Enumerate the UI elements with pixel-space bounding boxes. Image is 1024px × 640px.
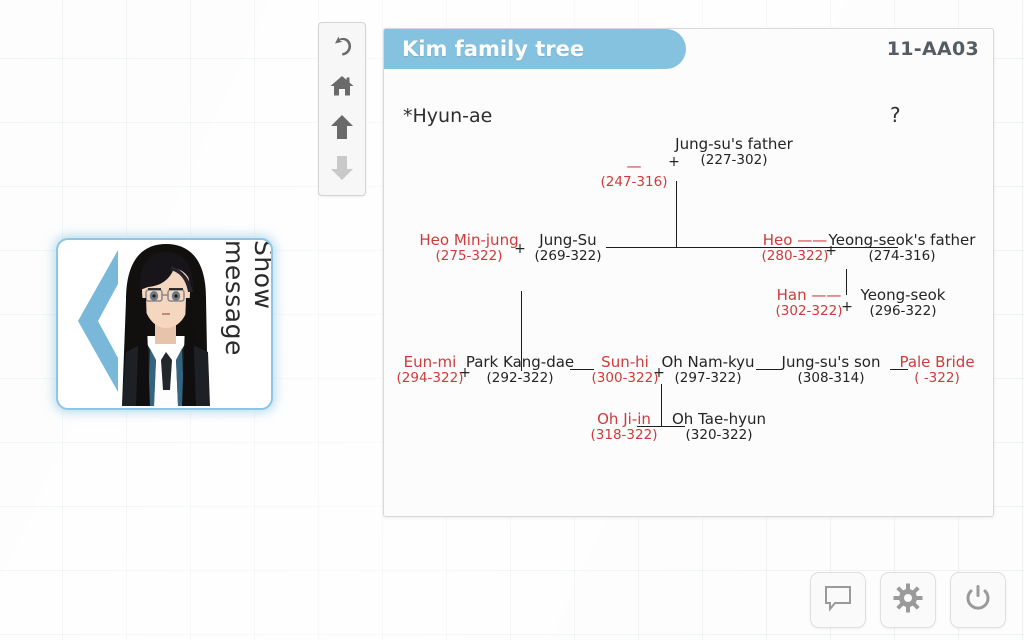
node-name: Oh Nam-kyu <box>661 354 754 371</box>
connector-line <box>756 369 782 370</box>
node-name: — <box>601 158 668 175</box>
power-icon <box>963 583 993 618</box>
tree-node: Yeong-seok (296-322) <box>861 287 946 319</box>
node-dates: (280-322) <box>762 249 829 264</box>
tree-node: Oh Ji-in (318-322) <box>591 411 658 443</box>
home-button[interactable] <box>322 70 362 108</box>
quick-button-bar <box>810 572 1006 628</box>
show-message-label: Show message <box>226 240 272 408</box>
connector-line <box>570 369 594 370</box>
show-message-button[interactable]: Show message <box>56 238 273 410</box>
tree-node: Yeong-seok's father (274-316) <box>829 232 976 264</box>
node-name: Heo Min-jung <box>419 232 518 249</box>
node-name: Heo —— <box>762 232 829 249</box>
node-name: Yeong-seok's father <box>829 232 976 249</box>
node-dates: (318-322) <box>591 428 658 443</box>
tree-node: Oh Tae-hyun (320-322) <box>672 411 766 443</box>
node-name: Park Kang-dae <box>466 354 574 371</box>
node-name: Oh Tae-hyun <box>672 411 766 428</box>
tree-node: Heo Min-jung (275-322) <box>419 232 518 264</box>
node-name: Jung-su's son <box>782 354 881 371</box>
node-name: Han —— <box>776 287 843 304</box>
node-name: Jung-su's father <box>675 136 793 153</box>
tree-node: — (247-316) <box>601 158 668 190</box>
settings-gear-icon <box>893 583 923 618</box>
character-portrait <box>110 240 220 406</box>
node-dates: (308-314) <box>782 371 881 386</box>
page-indicator: Page 1/3 <box>648 516 713 517</box>
family-tree-diagram: — (247-316) + Jung-su's father (227-302)… <box>384 29 994 517</box>
next-page-button[interactable]: Next page <box>851 516 928 517</box>
tree-node: Han —— (302-322) <box>776 287 843 319</box>
scroll-down-button[interactable] <box>322 152 362 190</box>
node-name: Pale Bride <box>899 354 974 371</box>
node-dates: (300-322) <box>592 371 659 386</box>
marriage-symbol: + <box>841 299 853 315</box>
node-dates: (320-322) <box>672 428 766 443</box>
connector-line <box>676 181 677 247</box>
node-name: Eun-mi <box>397 354 464 371</box>
node-dates: (294-322) <box>397 371 464 386</box>
home-icon <box>329 73 355 104</box>
node-dates: ( -322) <box>899 371 974 386</box>
message-log-button[interactable] <box>810 572 866 628</box>
tree-node: Eun-mi (294-322) <box>397 354 464 386</box>
back-icon <box>329 32 355 63</box>
node-name: Sun-hi <box>592 354 659 371</box>
tree-node: Sun-hi (300-322) <box>592 354 659 386</box>
node-dates: (297-322) <box>661 371 754 386</box>
node-dates: (296-322) <box>861 304 946 319</box>
scroll-down-icon <box>329 154 355 187</box>
settings-button[interactable] <box>880 572 936 628</box>
family-tree-panel: Kim family tree 11-AA03 *Hyun-ae ? — (24… <box>383 28 994 517</box>
node-dates: (275-322) <box>419 249 518 264</box>
node-dates: (227-302) <box>675 153 793 168</box>
node-name: Oh Ji-in <box>591 411 658 428</box>
message-log-icon <box>823 583 853 618</box>
node-dates: (269-322) <box>535 249 602 264</box>
node-dates: (274-316) <box>829 249 976 264</box>
node-dates: (247-316) <box>601 175 668 190</box>
scroll-up-icon <box>329 113 355 146</box>
connector-line <box>846 269 847 295</box>
node-name: Yeong-seok <box>861 287 946 304</box>
tree-node: Jung-su's father (227-302) <box>675 136 793 168</box>
navigation-toolbar <box>318 22 366 196</box>
tree-node: Park Kang-dae (292-322) <box>466 354 574 386</box>
tree-node: Jung-Su (269-322) <box>535 232 602 264</box>
tree-node: Jung-su's son (308-314) <box>782 354 881 386</box>
tree-node: Pale Bride ( -322) <box>899 354 974 386</box>
marriage-symbol: + <box>514 241 526 257</box>
back-button[interactable] <box>322 29 362 67</box>
tree-node: Heo —— (280-322) <box>762 232 829 264</box>
node-dates: (302-322) <box>776 304 843 319</box>
connector-line <box>661 384 662 427</box>
power-button[interactable] <box>950 572 1006 628</box>
scroll-up-button[interactable] <box>322 111 362 149</box>
node-dates: (292-322) <box>466 371 574 386</box>
tree-node: Oh Nam-kyu (297-322) <box>661 354 754 386</box>
node-name: Jung-Su <box>535 232 602 249</box>
